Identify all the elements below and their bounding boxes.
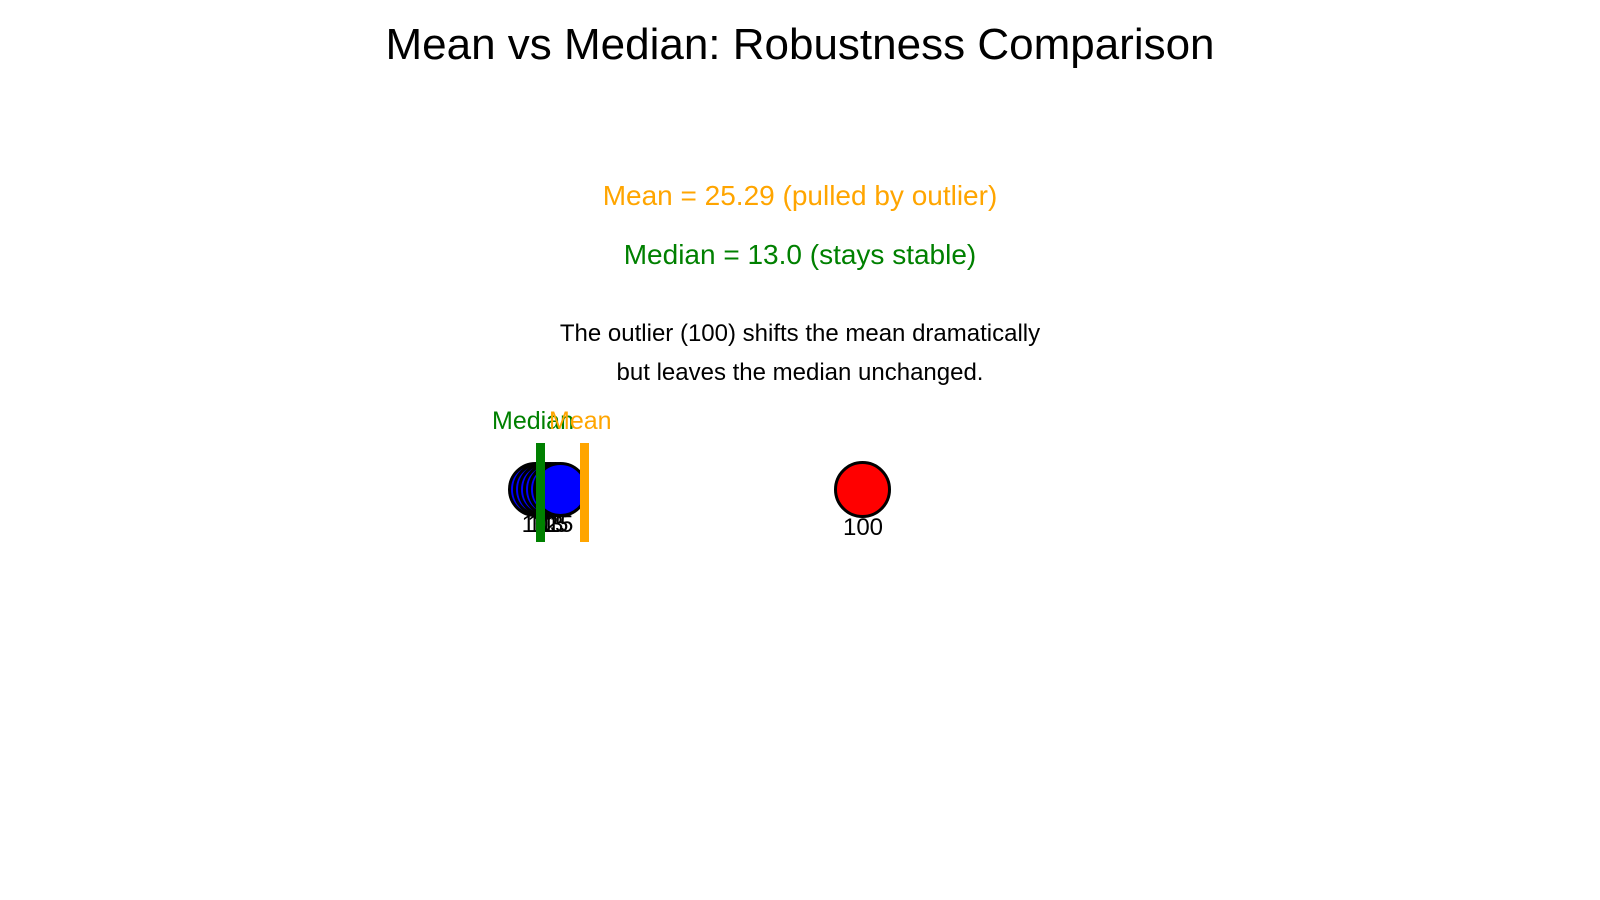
slide-canvas: Mean vs Median: Robustness Comparison Me… (0, 0, 1600, 900)
mean-line-label: Mean (549, 407, 612, 436)
median-reference-line (536, 443, 545, 542)
outlier-point-circle (834, 461, 891, 518)
mean-reference-line (580, 443, 589, 542)
outlier-point-label: 100 (833, 514, 893, 542)
scatter-plot: 10 11 12 13 15 15 100 Median Mean (0, 0, 1600, 900)
